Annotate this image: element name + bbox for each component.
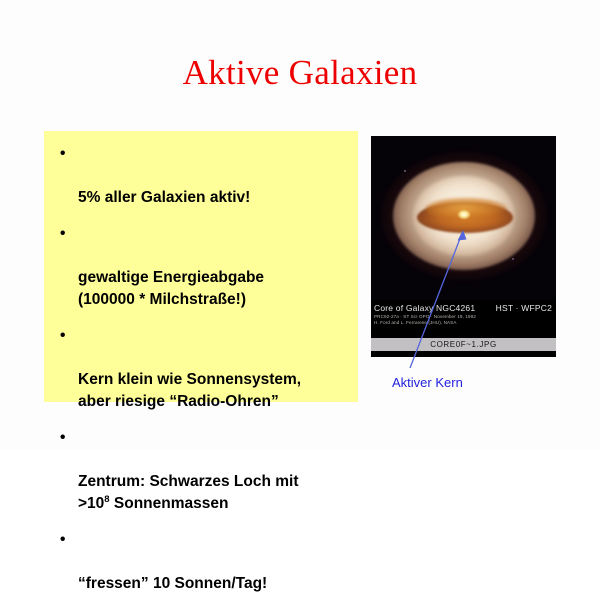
image-filename-bar: CORE0F~1.JPG (371, 338, 556, 351)
list-item: • Kern klein wie Sonnensystem, aber ries… (44, 325, 358, 413)
list-item-text: gewaltige Energieabgabe (100000 * Milchs… (78, 269, 264, 308)
list-item: • “fressen” 10 Sonnen/Tag! (44, 529, 358, 595)
bullet-dot-icon: • (60, 223, 65, 245)
galaxy-bright-core (458, 210, 470, 219)
galaxy-image-panel: Core of Galaxy NGC4261 HST · WFPC2 PRC92… (371, 136, 556, 357)
bullet-dot-icon: • (60, 325, 65, 347)
image-caption-zone: Core of Galaxy NGC4261 HST · WFPC2 PRC92… (371, 300, 556, 336)
galaxy-image (371, 136, 556, 306)
bullet-panel: • 5% aller Galaxien aktiv! • gewaltige E… (44, 131, 358, 402)
bullet-dot-icon: • (60, 427, 65, 449)
list-item-text: “fressen” 10 Sonnen/Tag! (78, 575, 267, 592)
bullet-dot-icon: • (60, 143, 65, 165)
page-title: Aktive Galaxien (0, 52, 600, 94)
slide-canvas: Aktive Galaxien • 5% aller Galaxien akti… (0, 0, 600, 450)
bullet-dot-icon: • (60, 529, 65, 551)
image-credit-line-1: PRC92-27a · ST ScI OPO · November 19, 19… (374, 314, 476, 320)
image-caption-title: Core of Galaxy NGC4261 (374, 303, 475, 313)
bullet-list: • 5% aller Galaxien aktiv! • gewaltige E… (44, 131, 358, 402)
list-item-text: 5% aller Galaxien aktiv! (78, 189, 250, 206)
annotation-label: Aktiver Kern (392, 375, 463, 391)
image-panel-footer (371, 351, 556, 357)
image-caption-instrument: HST · WFPC2 (496, 303, 552, 313)
background-speck (404, 170, 406, 172)
background-speck (512, 258, 514, 260)
list-item: • Zentrum: Schwarzes Loch mit >108 Sonne… (44, 427, 358, 515)
list-item-text-after: Sonnenmassen (110, 495, 229, 512)
image-credit-line-2: H. Ford and L. Ferrarese (JHU), NASA (374, 320, 456, 326)
list-item: • gewaltige Energieabgabe (100000 * Milc… (44, 223, 358, 311)
list-item: • 5% aller Galaxien aktiv! (44, 143, 358, 209)
list-item-text: Kern klein wie Sonnensystem, aber riesig… (78, 371, 301, 410)
